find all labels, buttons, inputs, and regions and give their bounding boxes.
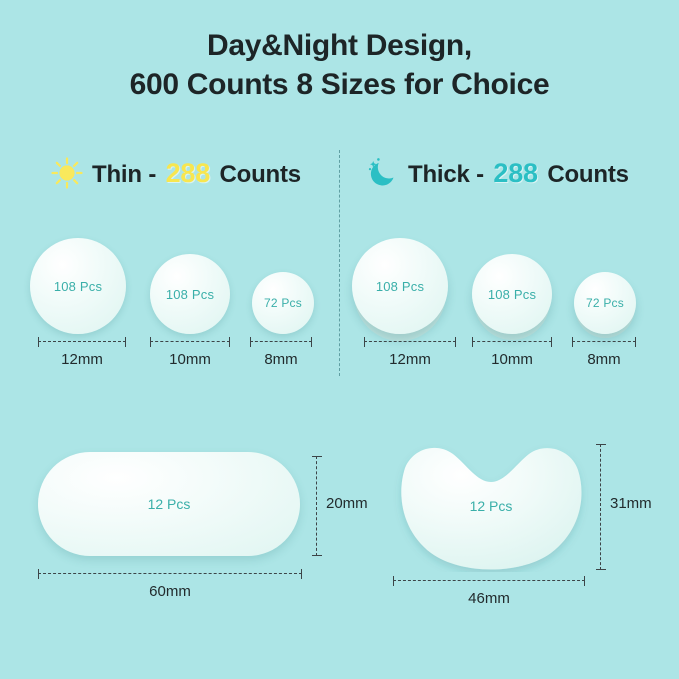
disc-thin-10mm: 108 Pcs: [150, 254, 230, 334]
disc-thick-12mm: 108 Pcs: [352, 238, 448, 334]
dimension-label-thin-12mm: 12mm: [38, 351, 126, 368]
dimension-line-thick-8mm: [572, 341, 636, 342]
section-title-thick: Thick - 288 Counts: [408, 158, 629, 189]
dimension-label-thick-10mm: 10mm: [472, 351, 552, 368]
dimension-line-thin-8mm: [250, 341, 312, 342]
title-line-2: 600 Counts 8 Sizes for Choice: [0, 65, 679, 104]
section-title-thin: Thin - 288 Counts: [92, 158, 301, 189]
dimension-line-thin-12mm: [38, 341, 126, 342]
dimension-line-crescent-width: [393, 580, 585, 581]
disc-row-thick: 108 Pcs 108 Pcs 72 Pcs: [352, 224, 652, 334]
disc-thick-10mm: 108 Pcs: [472, 254, 552, 334]
dimension-label-thick-12mm: 12mm: [364, 351, 456, 368]
dimension-line-thick-10mm: [472, 341, 552, 342]
page-title: Day&Night Design, 600 Counts 8 Sizes for…: [0, 26, 679, 104]
disc-label: 108 Pcs: [166, 287, 214, 302]
disc-thin-12mm: 108 Pcs: [30, 238, 126, 334]
dimension-line-crescent-height: [600, 444, 601, 570]
dimension-label-strip-width: 60mm: [38, 583, 302, 600]
dimension-label-thin-8mm: 8mm: [250, 351, 312, 368]
dimension-line-thin-10mm: [150, 341, 230, 342]
moon-icon: [366, 156, 400, 190]
column-divider: [339, 150, 340, 376]
dimension-line-thick-12mm: [364, 341, 456, 342]
crescent-patch: 12 Pcs: [393, 440, 589, 572]
dimension-label-crescent-width: 46mm: [393, 590, 585, 607]
sun-icon: [50, 156, 84, 190]
section-header-thick: Thick - 288 Counts: [366, 156, 629, 190]
strip-patch: 12 Pcs: [38, 452, 300, 556]
strip-patch-label: 12 Pcs: [148, 496, 191, 512]
section-count-thin: 288: [163, 158, 213, 188]
dimension-label-thin-10mm: 10mm: [150, 351, 230, 368]
disc-label: 72 Pcs: [264, 296, 302, 310]
disc-label: 108 Pcs: [54, 279, 102, 294]
dimension-label-crescent-height: 31mm: [610, 495, 679, 512]
disc-label: 72 Pcs: [586, 296, 624, 310]
crescent-patch-shape: [393, 440, 589, 572]
disc-row-thin: 108 Pcs 108 Pcs 72 Pcs: [30, 224, 330, 334]
dimension-line-strip-height: [316, 456, 317, 556]
section-label-thick: Thick -: [408, 161, 490, 188]
disc-thin-8mm: 72 Pcs: [252, 272, 314, 334]
disc-label: 108 Pcs: [488, 287, 536, 302]
title-line-1: Day&Night Design,: [0, 26, 679, 65]
disc-label: 108 Pcs: [376, 279, 424, 294]
section-header-thin: Thin - 288 Counts: [50, 156, 301, 190]
dimension-line-strip-width: [38, 573, 302, 574]
dimension-label-strip-height: 20mm: [326, 495, 396, 512]
dimension-label-thick-8mm: 8mm: [572, 351, 636, 368]
disc-thick-8mm: 72 Pcs: [574, 272, 636, 334]
section-count-suffix-thick: Counts: [541, 161, 629, 188]
section-label-thin: Thin -: [92, 161, 163, 188]
section-count-suffix-thin: Counts: [213, 161, 301, 188]
section-count-thick: 288: [490, 158, 540, 188]
